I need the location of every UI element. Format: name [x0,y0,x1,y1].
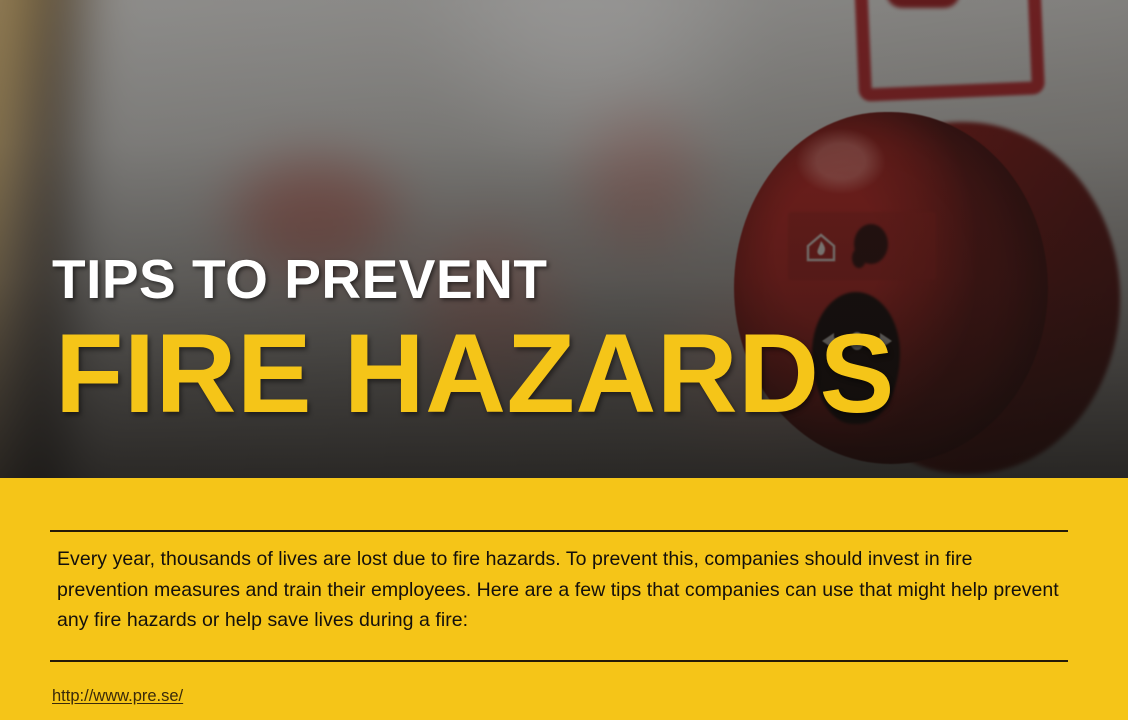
divider-top [50,530,1068,532]
content-band: Every year, thousands of lives are lost … [0,478,1128,720]
hero-eyebrow: TIPS TO PREVENT [52,248,1072,310]
hero-text-block: TIPS TO PREVENT FIRE HAZARDS [52,248,1072,426]
body-paragraph: Every year, thousands of lives are lost … [57,544,1069,636]
hero-banner: TIPS TO PREVENT FIRE HAZARDS [0,0,1128,478]
divider-bottom [50,660,1068,662]
hero-headline: FIRE HAZARDS [55,322,1072,426]
slide-root: TIPS TO PREVENT FIRE HAZARDS Every year,… [0,0,1128,720]
source-url-link[interactable]: http://www.pre.se/ [52,686,183,706]
